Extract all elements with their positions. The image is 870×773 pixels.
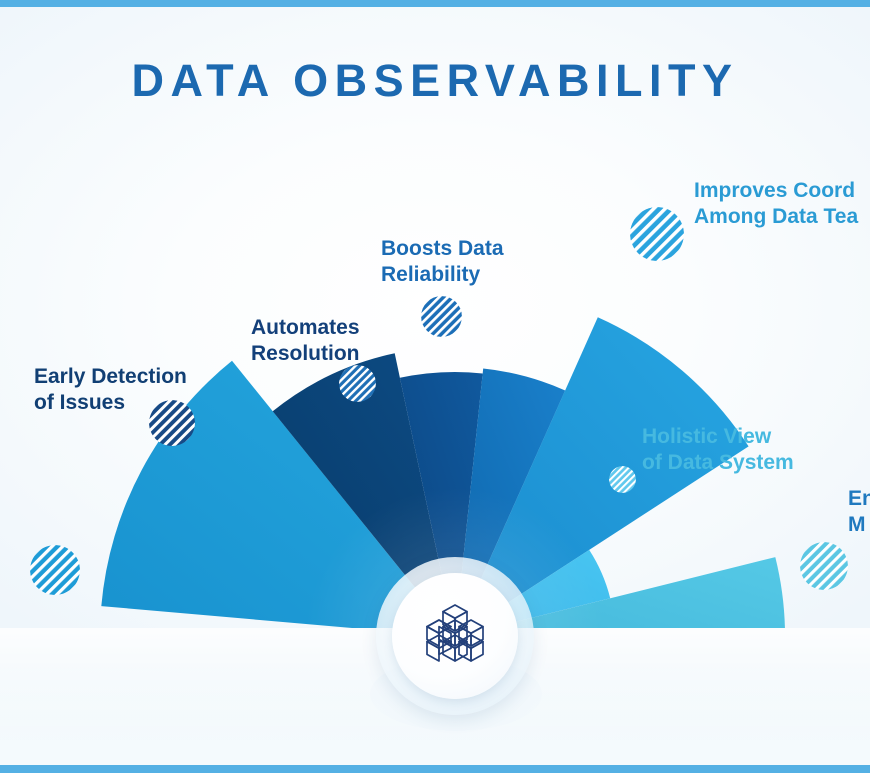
label-boosts-reliability: Boosts Data Reliability bbox=[381, 236, 504, 288]
label-holistic-view: Holistic View of Data System bbox=[642, 424, 794, 476]
top-accent-bar bbox=[0, 0, 870, 7]
infographic-canvas: DATA OBSERVABILITY bbox=[0, 0, 870, 773]
bottom-accent-bar bbox=[0, 765, 870, 773]
striped-dot-automates-resolution bbox=[339, 365, 376, 402]
label-automates-resolution: Automates Resolution bbox=[251, 315, 360, 367]
striped-dot-improves-coordination bbox=[630, 207, 684, 261]
data-cubes-icon bbox=[419, 600, 491, 672]
striped-dot-enhances-management bbox=[800, 542, 848, 590]
page-title: DATA OBSERVABILITY bbox=[0, 55, 870, 107]
striped-dot-holistic-view bbox=[609, 466, 636, 493]
label-improves-coordination: Improves Coord Among Data Tea bbox=[694, 178, 858, 230]
label-early-detection: Early Detection of Issues bbox=[34, 364, 187, 416]
striped-dot-reduces-downtime bbox=[30, 545, 80, 595]
center-hub[interactable] bbox=[376, 557, 534, 715]
striped-dot-boosts-reliability bbox=[421, 296, 462, 337]
infographic-stage: DATA OBSERVABILITY bbox=[0, 7, 870, 765]
hub-inner-disc bbox=[392, 573, 518, 699]
label-enhances-management: En M bbox=[848, 486, 870, 538]
